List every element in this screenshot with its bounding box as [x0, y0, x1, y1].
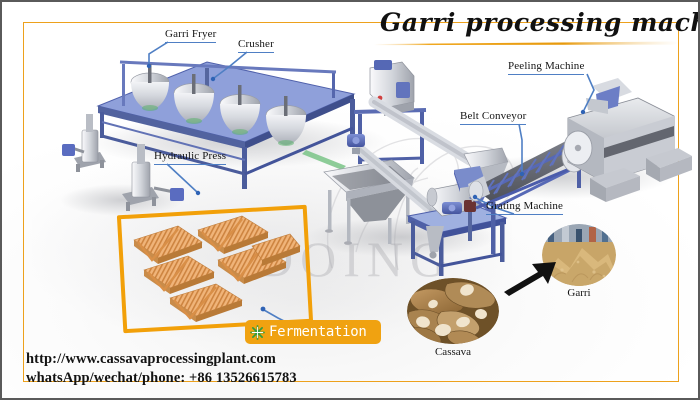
- callout-garri-fryer: Garri Fryer: [165, 28, 216, 43]
- contact-block: http://www.cassavaprocessingplant.com wh…: [26, 350, 446, 388]
- callout-hydraulic-press: Hydraulic Press: [154, 150, 226, 165]
- callout-peeling-machine: Peeling Machine: [508, 60, 584, 75]
- fermentation-highlight-box: [117, 205, 313, 333]
- website-line[interactable]: http://www.cassavaprocessingplant.com: [26, 350, 446, 369]
- right-arrow-icon: [502, 258, 558, 298]
- phone-line: whatsApp/wechat/phone: +86 13526615783: [26, 369, 446, 388]
- fermentation-badge[interactable]: Fermentation: [245, 320, 381, 344]
- callout-belt-conveyor: Belt Conveyor: [460, 110, 526, 125]
- callout-crusher: Crusher: [238, 38, 274, 53]
- poster-canvas: DOING Garri processing machine: [0, 0, 700, 400]
- cassava-photo: [407, 278, 499, 344]
- callout-grating-machine: Grating Machine: [486, 200, 563, 215]
- sparkle-icon: [249, 324, 266, 341]
- fermentation-badge-label: Fermentation: [269, 325, 367, 339]
